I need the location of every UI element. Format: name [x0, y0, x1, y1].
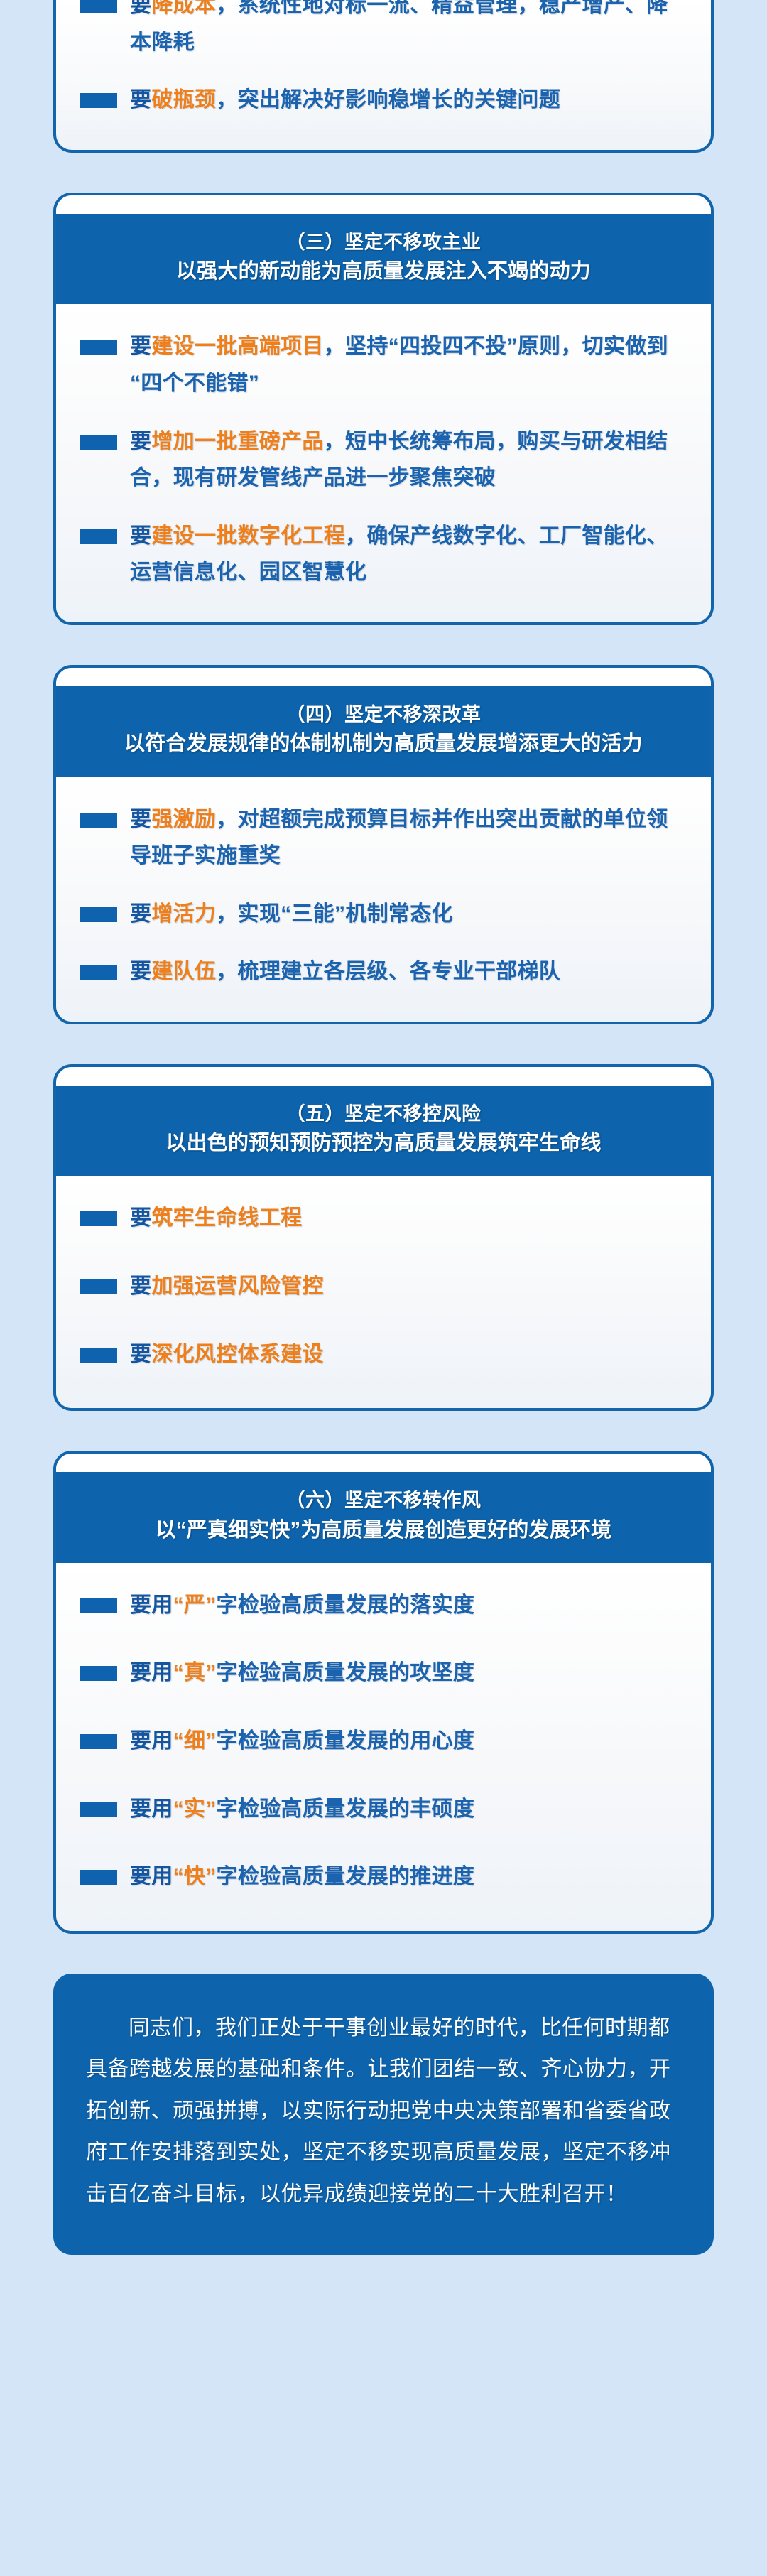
bullet-body-text: 字检验高质量发展的攻坚度: [217, 1661, 475, 1684]
bullet-lead-word: 要用: [130, 1865, 173, 1888]
card-top-strip: [56, 1454, 711, 1472]
bullet-item-text: 要建队伍，梳理建立各层级、各专业干部梯队: [130, 953, 687, 990]
bullet-body-text: 字检验高质量发展的用心度: [217, 1729, 475, 1753]
closing-paragraph: 同志们，我们正处于干事创业最好的时代，比任何时期都具备跨越发展的基础和条件。让我…: [86, 2008, 681, 2216]
infographic-root: 要降成本，系统性地对标一流、精益管理，稳产增产、降本降耗要破瓶颈，突出解决好影响…: [0, 0, 767, 2255]
section-title: （三）坚定不移攻主业: [77, 229, 690, 255]
bullet-keyword: “实”: [173, 1797, 217, 1821]
bullet-item: 要用“严”字检验高质量发展的落实度: [80, 1587, 687, 1624]
bullet-item: 要降成本，系统性地对标一流、精益管理，稳产增产、降本降耗: [80, 0, 687, 60]
closing-card: 同志们，我们正处于干事创业最好的时代，比任何时期都具备跨越发展的基础和条件。让我…: [53, 1974, 714, 2256]
bullet-dash-icon: [80, 965, 117, 980]
section-title: （五）坚定不移控风险: [77, 1101, 690, 1127]
bullet-keyword: “真”: [173, 1661, 217, 1684]
bullet-lead-word: 要: [130, 524, 151, 548]
bullet-item: 要深化风控体系建设: [80, 1336, 687, 1373]
bullet-dash-icon: [80, 1802, 117, 1817]
section-card-section-five: （五）坚定不移控风险以出色的预知预防预控为高质量发展筑牢生命线要筑牢生命线工程要…: [53, 1064, 714, 1411]
section-subtitle: 以符合发展规律的体制机制为高质量发展增添更大的活力: [77, 730, 690, 758]
bullet-item: 要强激励，对超额完成预算目标并作出突出贡献的单位领导班子实施重奖: [80, 801, 687, 875]
bullet-lead-word: 要: [130, 1275, 151, 1298]
bullet-item: 要用“实”字检验高质量发展的丰硕度: [80, 1791, 687, 1828]
bullet-item-text: 要筑牢生命线工程: [130, 1200, 687, 1237]
bullet-keyword: “快”: [173, 1865, 217, 1888]
bullet-keyword: 深化风控体系建设: [151, 1343, 323, 1366]
bullet-item: 要加强运营风险管控: [80, 1268, 687, 1305]
bullet-item: 要用“快”字检验高质量发展的推进度: [80, 1858, 687, 1895]
bullet-lead-word: 要: [130, 430, 151, 453]
bullet-lead-word: 要用: [130, 1797, 173, 1821]
bullet-lead-word: 要用: [130, 1729, 173, 1753]
section-body: 要强激励，对超额完成预算目标并作出突出贡献的单位领导班子实施重奖要增活力，实现“…: [56, 777, 711, 1022]
bullet-keyword: 建设一批高端项目: [151, 335, 323, 358]
bullet-item-text: 要建设一批高端项目，坚持“四投四不投”原则，切实做到“四个不能错”: [130, 328, 687, 401]
bullet-dash-icon: [80, 93, 117, 108]
section-subtitle: 以“严真细实快”为高质量发展创造更好的发展环境: [77, 1517, 690, 1544]
bullet-lead-word: 要: [130, 902, 151, 926]
bullet-keyword: 增加一批重磅产品: [151, 430, 323, 453]
section-title: （六）坚定不移转作风: [77, 1488, 690, 1513]
bullet-item: 要筑牢生命线工程: [80, 1200, 687, 1237]
card-continued-from-above: 要降成本，系统性地对标一流、精益管理，稳产增产、降本降耗要破瓶颈，突出解决好影响…: [53, 0, 714, 153]
bullet-lead-word: 要: [130, 0, 151, 17]
bullet-item-text: 要降成本，系统性地对标一流、精益管理，稳产增产、降本降耗: [130, 0, 687, 60]
bullet-item-text: 要破瓶颈，突出解决好影响稳增长的关键问题: [130, 82, 687, 119]
bullet-item-text: 要用“实”字检验高质量发展的丰硕度: [130, 1791, 687, 1828]
section-body: 要筑牢生命线工程要加强运营风险管控要深化风控体系建设: [56, 1176, 711, 1408]
section-subtitle: 以强大的新动能为高质量发展注入不竭的动力: [77, 258, 690, 286]
bullet-lead-word: 要: [130, 1206, 151, 1230]
bullet-dash-icon: [80, 907, 117, 922]
bullet-dash-icon: [80, 340, 117, 355]
card-top-strip: [56, 195, 711, 214]
bullet-item: 要建设一批高端项目，坚持“四投四不投”原则，切实做到“四个不能错”: [80, 328, 687, 401]
section-card-section-three: （三）坚定不移攻主业以强大的新动能为高质量发展注入不竭的动力要建设一批高端项目，…: [53, 193, 714, 625]
section-header: （三）坚定不移攻主业以强大的新动能为高质量发展注入不竭的动力: [56, 214, 711, 305]
section-header: （四）坚定不移深改革以符合发展规律的体制机制为高质量发展增添更大的活力: [56, 686, 711, 777]
bullet-lead-word: 要: [130, 335, 151, 358]
bullet-dash-icon: [80, 813, 117, 828]
bullet-keyword: “严”: [173, 1593, 217, 1617]
section-card-section-six: （六）坚定不移转作风以“严真细实快”为高质量发展创造更好的发展环境要用“严”字检…: [53, 1451, 714, 1934]
bullet-lead-word: 要: [130, 808, 151, 831]
bullet-dash-icon: [80, 435, 117, 450]
bullet-item: 要破瓶颈，突出解决好影响稳增长的关键问题: [80, 82, 687, 119]
bullet-item-text: 要加强运营风险管控: [130, 1268, 687, 1305]
section-header: （六）坚定不移转作风以“严真细实快”为高质量发展创造更好的发展环境: [56, 1472, 711, 1563]
sections-container: （三）坚定不移攻主业以强大的新动能为高质量发展注入不竭的动力要建设一批高端项目，…: [0, 193, 767, 1934]
bullet-item-text: 要深化风控体系建设: [130, 1336, 687, 1373]
bullet-keyword: 加强运营风险管控: [151, 1275, 323, 1298]
bullet-dash-icon: [80, 1598, 117, 1613]
bullet-keyword: 建设一批数字化工程: [151, 524, 345, 548]
bullet-lead-word: 要: [130, 88, 151, 112]
bullet-keyword: “细”: [173, 1729, 217, 1753]
bullet-dash-icon: [80, 1666, 117, 1681]
bullet-body-text: ，实现“三能”机制常态化: [216, 902, 453, 926]
bullet-lead-word: 要: [130, 960, 151, 983]
bullet-item-text: 要建设一批数字化工程，确保产线数字化、工厂智能化、运营信息化、园区智慧化: [130, 518, 687, 591]
bullet-item-text: 要增活力，实现“三能”机制常态化: [130, 896, 687, 933]
bullet-item-text: 要用“严”字检验高质量发展的落实度: [130, 1587, 687, 1624]
bullet-item: 要建设一批数字化工程，确保产线数字化、工厂智能化、运营信息化、园区智慧化: [80, 518, 687, 591]
bullet-keyword: 强激励: [151, 808, 216, 831]
bullet-item: 要增活力，实现“三能”机制常态化: [80, 896, 687, 933]
card-top-strip: [56, 1067, 711, 1086]
bullet-dash-icon: [80, 529, 117, 544]
bullet-dash-icon: [80, 1870, 117, 1885]
bullet-keyword: 破瓶颈: [151, 88, 216, 112]
bullet-keyword: 降成本: [151, 0, 216, 17]
bullet-body-text: ，梳理建立各层级、各专业干部梯队: [216, 960, 560, 983]
bullet-dash-icon: [80, 1279, 117, 1294]
section-body: 要用“严”字检验高质量发展的落实度要用“真”字检验高质量发展的攻坚度要用“细”字…: [56, 1563, 711, 1931]
bullet-dash-icon: [80, 0, 117, 13]
bullet-item-text: 要强激励，对超额完成预算目标并作出突出贡献的单位领导班子实施重奖: [130, 801, 687, 875]
bullet-lead-word: 要: [130, 1343, 151, 1366]
bullet-dash-icon: [80, 1734, 117, 1749]
bullet-lead-word: 要用: [130, 1593, 173, 1617]
section-subtitle: 以出色的预知预防预控为高质量发展筑牢生命线: [77, 1130, 690, 1157]
bullet-item-text: 要用“真”字检验高质量发展的攻坚度: [130, 1655, 687, 1692]
bullet-body-text: 字检验高质量发展的落实度: [217, 1593, 475, 1617]
bullet-dash-icon: [80, 1348, 117, 1363]
bullet-item-text: 要用“细”字检验高质量发展的用心度: [130, 1723, 687, 1760]
bullet-lead-word: 要用: [130, 1661, 173, 1684]
bullet-item: 要增加一批重磅产品，短中长统筹布局，购买与研发相结合，现有研发管线产品进一步聚焦…: [80, 423, 687, 497]
section-header: （五）坚定不移控风险以出色的预知预防预控为高质量发展筑牢生命线: [56, 1086, 711, 1176]
bullet-item-text: 要增加一批重磅产品，短中长统筹布局，购买与研发相结合，现有研发管线产品进一步聚焦…: [130, 423, 687, 497]
bullet-body-text: ，突出解决好影响稳增长的关键问题: [216, 88, 560, 112]
bullet-item: 要用“真”字检验高质量发展的攻坚度: [80, 1655, 687, 1692]
section-card-section-four: （四）坚定不移深改革以符合发展规律的体制机制为高质量发展增添更大的活力要强激励，…: [53, 665, 714, 1024]
bullet-body-text: 字检验高质量发展的推进度: [217, 1865, 475, 1888]
card-top-strip: [56, 668, 711, 686]
section-body: 要建设一批高端项目，坚持“四投四不投”原则，切实做到“四个不能错”要增加一批重磅…: [56, 304, 711, 622]
bullet-keyword: 建队伍: [151, 960, 216, 983]
bullet-dash-icon: [80, 1211, 117, 1226]
bullet-body-text: 字检验高质量发展的丰硕度: [217, 1797, 475, 1821]
bullet-keyword: 增活力: [151, 902, 216, 926]
bullet-item-text: 要用“快”字检验高质量发展的推进度: [130, 1858, 687, 1895]
bullet-list-continued: 要降成本，系统性地对标一流、精益管理，稳产增产、降本降耗要破瓶颈，突出解决好影响…: [80, 0, 687, 119]
bullet-item: 要用“细”字检验高质量发展的用心度: [80, 1723, 687, 1760]
bullet-item: 要建队伍，梳理建立各层级、各专业干部梯队: [80, 953, 687, 990]
section-title: （四）坚定不移深改革: [77, 702, 690, 727]
bullet-keyword: 筑牢生命线工程: [151, 1206, 302, 1230]
